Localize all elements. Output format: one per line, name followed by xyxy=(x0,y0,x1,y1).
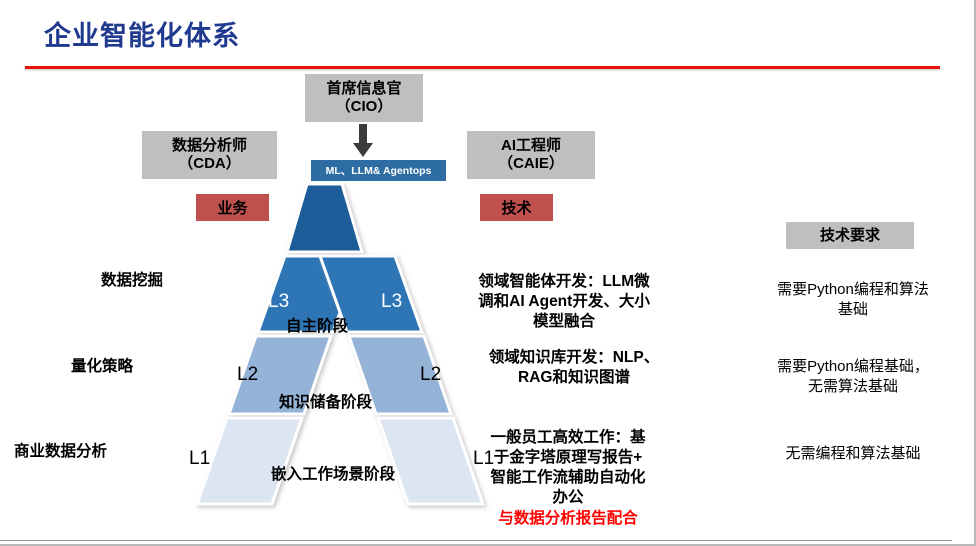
right-capability-2-line2: RAG和知识图谱 xyxy=(458,368,690,388)
pyramid-apex xyxy=(287,184,362,252)
tech-requirement-2: 需要Python编程基础， 无需算法基础 xyxy=(744,357,962,397)
right-capability-3-line4: 办公 xyxy=(448,488,688,508)
arrow-down-icon xyxy=(352,124,374,158)
tech-requirement-1: 需要Python编程和算法 基础 xyxy=(744,280,962,320)
right-capability-1: 领域智能体开发：LLM微 调和AI Agent开发、大小 模型融合 xyxy=(448,272,680,332)
tech-requirement-2-line2: 无需算法基础 xyxy=(744,377,962,397)
ml-capability-band[interactable]: ML、LLM& Agentops xyxy=(311,160,446,181)
right-capability-3-line3: 智能工作流辅助自动化 xyxy=(448,468,688,488)
right-capability-1-line3: 模型融合 xyxy=(448,312,680,332)
right-capability-1-line1: 领域智能体开发：LLM微 xyxy=(448,272,680,292)
role-box-cda-line2: （CDA） xyxy=(172,155,247,173)
role-box-cda-line1: 数据分析师 xyxy=(172,137,247,155)
stage-label-l2: 知识储备阶段 xyxy=(279,390,372,412)
pyramid-left-l1 xyxy=(197,418,302,504)
role-box-caie[interactable]: AI工程师 （CAIE） xyxy=(467,131,595,179)
right-capability-3: 一般员工高效工作：基 于金字塔原理写报告+ 智能工作流辅助自动化 办公 与数据分… xyxy=(448,428,688,529)
right-capability-2-line1: 领域知识库开发：NLP、 xyxy=(458,348,690,368)
role-box-cda[interactable]: 数据分析师 （CDA） xyxy=(142,131,277,179)
right-capability-2: 领域知识库开发：NLP、 RAG和知识图谱 xyxy=(458,348,690,388)
tech-requirement-header: 技术要求 xyxy=(786,222,914,249)
tech-requirement-3: 无需编程和算法基础 xyxy=(744,444,962,464)
bottom-divider xyxy=(0,540,952,541)
title-divider xyxy=(25,66,940,69)
left-capability-1: 数据挖掘 xyxy=(101,268,163,290)
right-capability-3-line2: 于金字塔原理写报告+ xyxy=(448,448,688,468)
tech-requirement-1-line2: 基础 xyxy=(744,300,962,320)
page-title: 企业智能化体系 xyxy=(44,14,240,53)
tech-requirement-1-line1: 需要Python编程和算法 xyxy=(744,280,962,300)
role-box-caie-line1: AI工程师 xyxy=(498,137,564,155)
role-box-caie-line2: （CAIE） xyxy=(498,155,564,173)
role-box-cio[interactable]: 首席信息官 （CIO） xyxy=(305,74,423,122)
role-box-cio-line2: （CIO） xyxy=(326,98,401,116)
stage-label-l1: 嵌入工作场景阶段 xyxy=(271,462,395,484)
tech-requirement-3-line1: 无需编程和算法基础 xyxy=(744,444,962,464)
right-capability-3-line1: 一般员工高效工作：基 xyxy=(448,428,688,448)
tech-requirement-2-line1: 需要Python编程基础， xyxy=(744,357,962,377)
right-capability-1-line2: 调和AI Agent开发、大小 xyxy=(448,292,680,312)
right-capability-3-note: 与数据分析报告配合 xyxy=(448,509,688,529)
stage-label-l3: 自主阶段 xyxy=(286,314,348,336)
left-capability-3: 商业数据分析 xyxy=(14,439,107,461)
slide-canvas: 企业智能化体系 首席信息官 （CIO） ML、LLM& Agentops 数据分… xyxy=(0,0,976,546)
left-capability-2: 量化策略 xyxy=(71,354,133,376)
role-box-cio-line1: 首席信息官 xyxy=(326,80,401,98)
